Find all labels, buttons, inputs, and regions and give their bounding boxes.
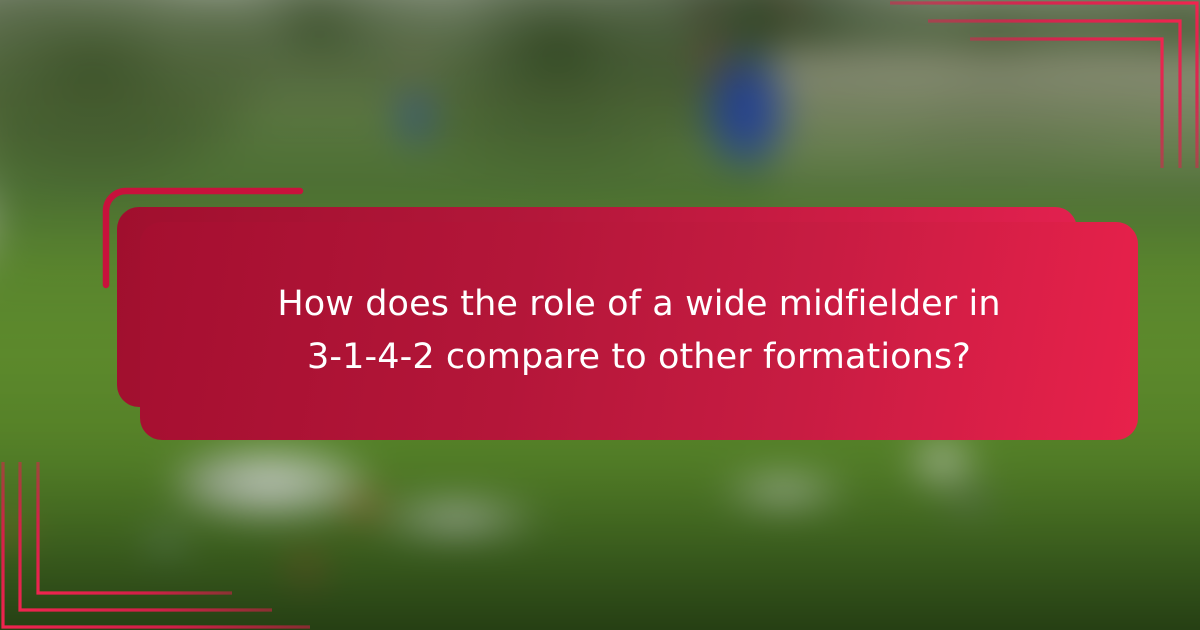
question-card-stack: How does the role of a wide midfielder i… — [100, 185, 1105, 445]
question-text: How does the role of a wide midfielder i… — [140, 278, 1138, 384]
question-card-front[interactable]: How does the role of a wide midfielder i… — [140, 222, 1138, 440]
poster-canvas: How does the role of a wide midfielder i… — [0, 0, 1200, 630]
